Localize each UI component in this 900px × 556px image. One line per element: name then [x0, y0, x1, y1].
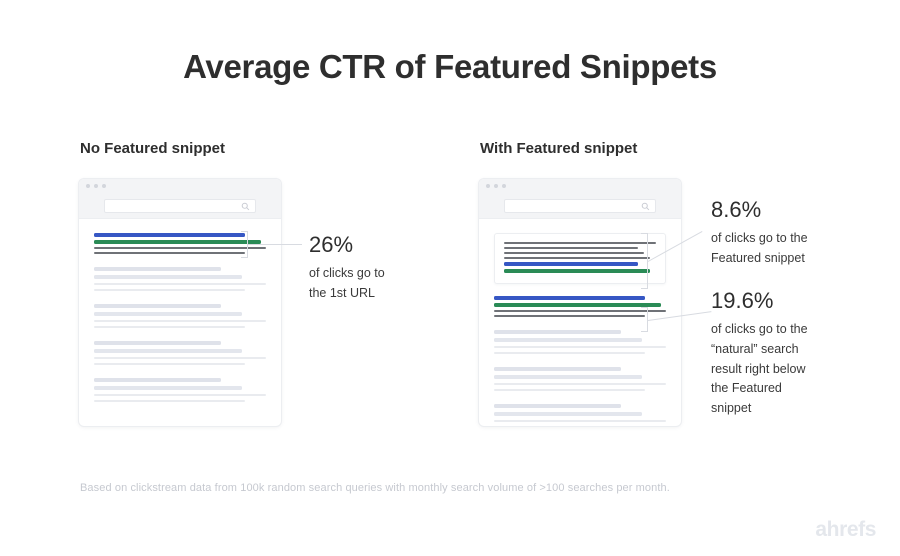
annotation-percent-value: 26%: [309, 232, 419, 258]
serp-results-with-snippet: [479, 219, 681, 426]
serp-result-placeholder[interactable]: [494, 330, 666, 354]
placeholder-title-line: [494, 375, 642, 379]
placeholder-title-line: [494, 338, 642, 342]
serp-result-placeholder[interactable]: [494, 367, 666, 391]
placeholder-title-line: [94, 386, 242, 390]
annotation-description: of clicks go to the 1st URL: [309, 264, 419, 304]
placeholder-title-line: [94, 378, 221, 382]
browser-mockup-with-snippet: [479, 179, 681, 426]
placeholder-title-line: [94, 267, 221, 271]
placeholder-body-line: [494, 420, 666, 422]
serp-result-placeholder[interactable]: [94, 341, 266, 365]
placeholder-body-line: [94, 357, 266, 359]
source-footnote: Based on clickstream data from 100k rand…: [80, 482, 670, 494]
serp-result-placeholder[interactable]: [94, 267, 266, 291]
placeholder-title-line: [94, 341, 221, 345]
placeholder-body-line: [494, 352, 645, 354]
snippet-text-bar: [504, 242, 656, 244]
placeholder-body-line: [94, 289, 245, 291]
placeholder-title-line: [494, 367, 621, 371]
placeholder-body-line: [494, 346, 666, 348]
placeholder-title-line: [494, 412, 642, 416]
result-url-bar: [494, 303, 661, 307]
placeholder-title-line: [494, 404, 621, 408]
search-input[interactable]: [504, 199, 656, 213]
infographic-root: Average CTR of Featured Snippets No Feat…: [0, 0, 900, 556]
browser-chrome-bar: [79, 179, 281, 193]
placeholder-body-line: [494, 389, 645, 391]
result-title-bar: [494, 296, 645, 300]
callout-bracket-26: [241, 231, 248, 258]
placeholder-body-line: [94, 326, 245, 328]
result-url-bar: [94, 240, 261, 244]
search-icon: [241, 202, 250, 211]
window-dot-minimize-icon: [94, 184, 98, 188]
snippet-title-bar: [504, 262, 638, 266]
annotation-percent-value: 19.6%: [711, 288, 841, 314]
browser-chrome-bar: [479, 179, 681, 193]
window-dot-minimize-icon: [494, 184, 498, 188]
placeholder-body-line: [94, 363, 245, 365]
callout-connector-26: [248, 244, 302, 245]
annotation-19-6-percent: 19.6% of clicks go to the “natural” sear…: [711, 288, 841, 419]
ahrefs-logo: ahrefs: [815, 518, 876, 542]
annotation-description: of clicks go to the Featured snippet: [711, 229, 841, 269]
window-dot-maximize-icon: [502, 184, 506, 188]
browser-search-bar: [479, 193, 681, 219]
page-title: Average CTR of Featured Snippets: [0, 48, 900, 86]
serp-results-no-snippet: [79, 219, 281, 402]
snippet-text-bar: [504, 247, 638, 249]
snippet-url-bar: [504, 269, 650, 273]
placeholder-body-line: [494, 383, 666, 385]
window-dot-maximize-icon: [102, 184, 106, 188]
placeholder-body-line: [94, 400, 245, 402]
snippet-text-bar: [504, 257, 650, 259]
serp-result-placeholder[interactable]: [94, 304, 266, 328]
column-heading-with-snippet: With Featured snippet: [480, 140, 637, 157]
placeholder-body-line: [94, 320, 266, 322]
placeholder-title-line: [94, 312, 242, 316]
placeholder-body-line: [94, 283, 266, 285]
snippet-text-bar: [504, 252, 644, 254]
annotation-26-percent: 26% of clicks go to the 1st URL: [309, 232, 419, 304]
search-input[interactable]: [104, 199, 256, 213]
result-snippet-bar: [94, 252, 245, 254]
column-heading-no-snippet: No Featured snippet: [80, 140, 225, 157]
placeholder-title-line: [94, 304, 221, 308]
annotation-description: of clicks go to the “natural” search res…: [711, 320, 841, 419]
serp-result-placeholder[interactable]: [494, 404, 666, 426]
annotation-8-6-percent: 8.6% of clicks go to the Featured snippe…: [711, 197, 841, 269]
placeholder-body-line: [94, 394, 266, 396]
browser-search-bar: [79, 193, 281, 219]
search-icon: [641, 202, 650, 211]
annotation-percent-value: 8.6%: [711, 197, 841, 223]
serp-result-placeholder[interactable]: [94, 378, 266, 402]
placeholder-title-line: [494, 330, 621, 334]
placeholder-title-line: [94, 349, 242, 353]
result-snippet-bar: [494, 315, 645, 317]
placeholder-title-line: [94, 275, 242, 279]
window-dot-close-icon: [86, 184, 90, 188]
browser-mockup-no-snippet: [79, 179, 281, 426]
window-dot-close-icon: [486, 184, 490, 188]
result-title-bar: [94, 233, 245, 237]
